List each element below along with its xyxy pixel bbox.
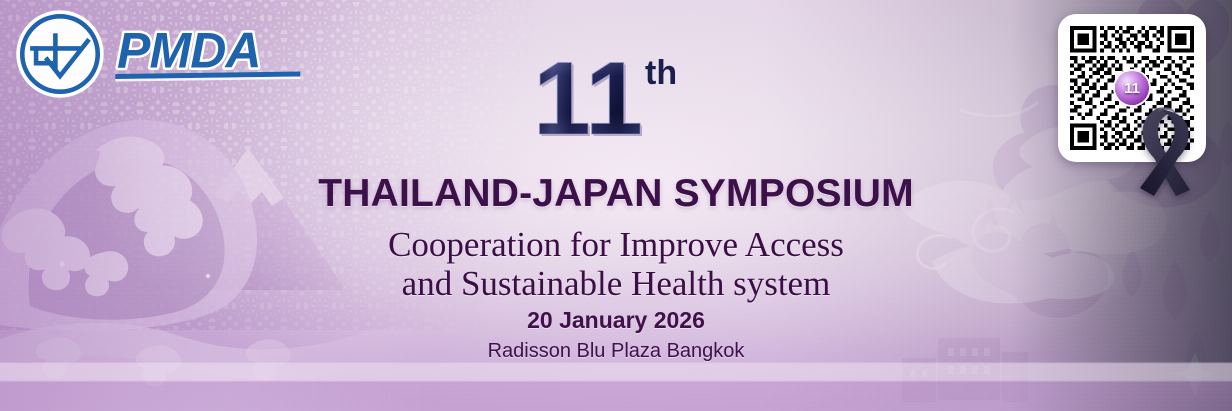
edition-number: 11 [533,41,643,152]
subtitle-line-2: and Sustainable Health system [0,264,1232,303]
edition-number-shadow: 11 [535,43,645,152]
sparkle-diamond [1186,352,1204,396]
page-title: THAILAND-JAPAN SYMPOSIUM [0,172,1232,216]
edition-number-graphic: 11 11 11 th [525,40,725,152]
symposium-banner: PMDA PMDA [0,0,1232,411]
fuji-snowcap [214,148,284,206]
edition-ordinal-suffix: th [645,54,677,92]
event-venue: Radisson Blu Plaza Bangkok [0,340,1232,363]
mourning-ribbon [1128,96,1214,206]
pmda-logo: PMDA PMDA [14,8,304,100]
wave-foam [2,137,203,297]
pmda-wordmark-fill: PMDA [117,24,261,78]
event-date: 20 January 2026 [0,307,1232,334]
subtitle-line-1: Cooperation for Improve Access [388,225,844,264]
pmda-emblem-icon [14,8,106,100]
pmda-wordmark: PMDA PMDA [112,24,304,84]
building-silhouettes [902,338,1028,402]
edition-number-highlight: 11 [533,41,643,152]
mount-fuji [150,148,346,290]
wave-trough [29,159,225,320]
subtitle: Cooperation for Improve Access and Susta… [0,225,1232,303]
